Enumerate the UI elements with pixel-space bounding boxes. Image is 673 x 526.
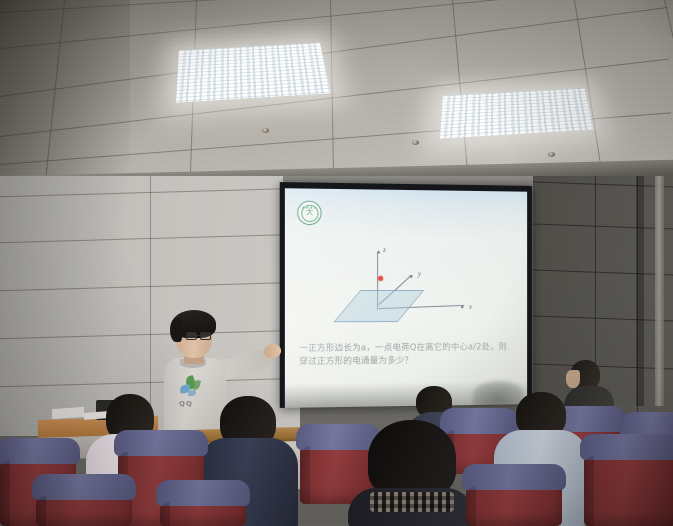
- door-recess-shadow: [636, 176, 644, 406]
- lecture-hall-photo: ★★★★ 大 z y x: [0, 0, 673, 526]
- plaid-collar: [370, 492, 454, 512]
- sweatshirt-graphic-text: QQ: [179, 400, 193, 408]
- seat[interactable]: [584, 446, 673, 526]
- slide-diagram: z y x: [334, 241, 483, 332]
- door-frame: [655, 176, 664, 406]
- audience-person-foreground: [348, 420, 474, 526]
- seat[interactable]: [36, 486, 132, 526]
- seat[interactable]: [160, 492, 246, 526]
- university-seal-logo: ★★★★ 大: [297, 201, 321, 226]
- projection-screen-frame: ★★★★ 大 z y x: [280, 182, 532, 408]
- presenter-hair-side: [170, 318, 182, 342]
- ceiling-light-1: [176, 43, 331, 103]
- slide-text-line-1: 一正方形边长为a，一点电荷Q在离它的中心a/2处，则: [299, 341, 515, 356]
- person-head: [368, 420, 456, 498]
- person-face: [566, 370, 580, 388]
- suspended-ceiling: [0, 0, 673, 176]
- sprinkler-icon: [262, 128, 269, 133]
- slide-text-line-2: 穿过正方形的电通量为多少？: [299, 354, 515, 369]
- point-charge-marker: [378, 276, 383, 281]
- sprinkler-icon: [548, 152, 555, 157]
- glasses-icon: [186, 332, 214, 341]
- sprinkler-icon: [412, 140, 419, 145]
- axis-label-x: x: [469, 303, 472, 311]
- seat[interactable]: [466, 476, 562, 526]
- seal-glyph: 大: [306, 210, 313, 217]
- axis-label-y: y: [418, 270, 421, 278]
- projection-screen: ★★★★ 大 z y x: [285, 188, 527, 408]
- square-sheet: [333, 290, 424, 322]
- ceiling-light-2: [440, 88, 594, 138]
- axis-label-z: z: [383, 246, 386, 254]
- slide-question-text: 一正方形边长为a，一点电荷Q在离它的中心a/2处，则 穿过正方形的电通量为多少？: [299, 341, 515, 369]
